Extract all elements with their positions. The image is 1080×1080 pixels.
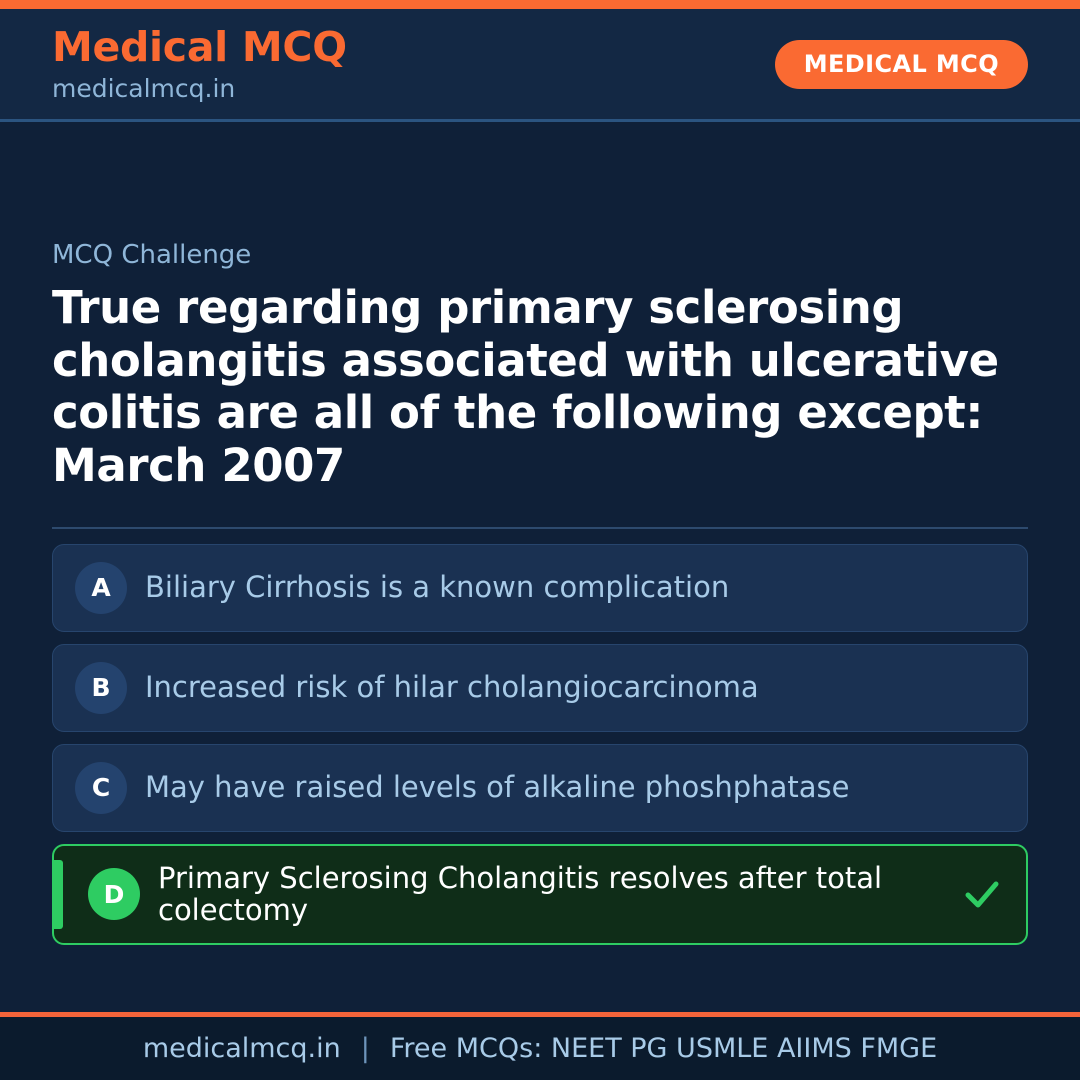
footer-exams: Free MCQs: NEET PG USMLE AIIMS FMGE [390, 1035, 937, 1062]
option-text: May have raised levels of alkaline phosh… [145, 771, 961, 803]
header-badge[interactable]: MEDICAL MCQ [775, 40, 1028, 89]
option-text: Primary Sclerosing Cholangitis resolves … [158, 862, 960, 927]
option-letter-badge: B [75, 662, 127, 714]
option-letter-badge: C [75, 762, 127, 814]
brand-title: Medical MCQ [52, 26, 347, 69]
main-content: MCQ Challenge True regarding primary scl… [0, 122, 1080, 1012]
option-letter-badge: A [75, 562, 127, 614]
section-divider [52, 527, 1028, 529]
page-header: Medical MCQ medicalmcq.in MEDICAL MCQ [0, 9, 1080, 122]
option-a[interactable]: A Biliary Cirrhosis is a known complicat… [52, 544, 1028, 632]
page-footer: medicalmcq.in | Free MCQs: NEET PG USMLE… [0, 1012, 1080, 1080]
option-c[interactable]: C May have raised levels of alkaline pho… [52, 744, 1028, 832]
top-accent-bar [0, 0, 1080, 9]
footer-separator: | [341, 1035, 390, 1062]
option-b[interactable]: B Increased risk of hilar cholangiocarci… [52, 644, 1028, 732]
footer-site[interactable]: medicalmcq.in [143, 1035, 341, 1062]
option-letter-badge: D [88, 868, 140, 920]
mcq-card: Medical MCQ medicalmcq.in MEDICAL MCQ MC… [0, 0, 1080, 1080]
check-icon [960, 872, 1004, 916]
brand-url: medicalmcq.in [52, 76, 347, 102]
option-d[interactable]: D Primary Sclerosing Cholangitis resolve… [52, 844, 1028, 945]
kicker-label: MCQ Challenge [52, 242, 1028, 268]
brand-block: Medical MCQ medicalmcq.in [52, 26, 347, 102]
option-text: Increased risk of hilar cholangiocarcino… [145, 671, 961, 703]
options-list: A Biliary Cirrhosis is a known complicat… [52, 544, 1028, 945]
option-text: Biliary Cirrhosis is a known complicatio… [145, 571, 961, 603]
question-text: True regarding primary sclerosing cholan… [52, 282, 1028, 493]
